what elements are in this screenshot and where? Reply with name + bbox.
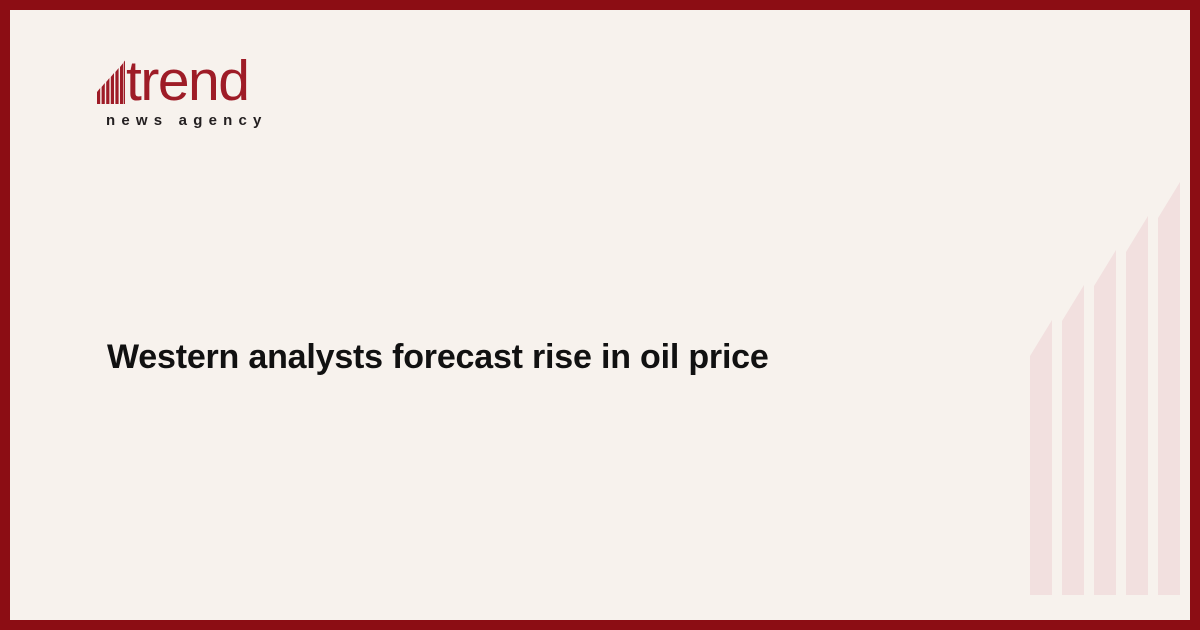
card-canvas: trend news agency Western analysts forec… <box>10 10 1190 620</box>
decorative-bar <box>1094 250 1116 595</box>
decorative-bar <box>1062 285 1084 595</box>
decorative-ascending-bars <box>1010 10 1190 620</box>
decorative-bar <box>1030 320 1052 595</box>
decorative-bar <box>1158 182 1180 595</box>
logo-tagline: news agency <box>106 112 457 129</box>
logo-wordmark-row: trend <box>97 48 457 106</box>
article-headline: Western analysts forecast rise in oil pr… <box>107 336 907 380</box>
ascending-bars-mark-icon <box>97 54 125 104</box>
logo-wordmark-text: trend <box>126 58 248 106</box>
decorative-bar <box>1126 216 1148 595</box>
trend-logo[interactable]: trend news agency <box>97 48 457 129</box>
article-card: trend news agency Western analysts forec… <box>0 0 1200 630</box>
